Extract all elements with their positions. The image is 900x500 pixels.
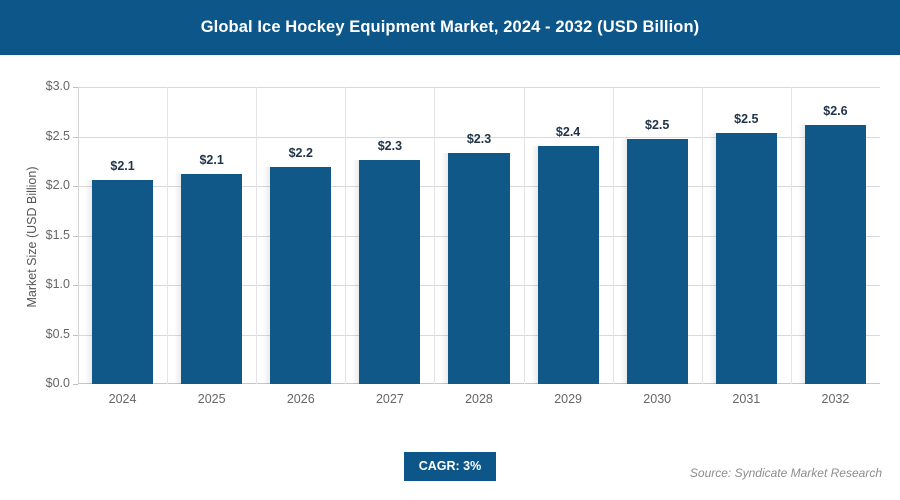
bar-value-label: $2.6 [791, 104, 880, 118]
y-axis-tick-mark [73, 236, 78, 237]
x-axis-tick-label: 2024 [78, 392, 167, 406]
y-axis-tick-mark [73, 335, 78, 336]
chart-area: Market Size (USD Billion) $0.0$0.5$1.0$1… [0, 55, 900, 500]
bar[interactable] [359, 160, 420, 384]
x-axis-tick-label: 2027 [345, 392, 434, 406]
bar-value-label: $2.1 [78, 159, 167, 173]
bar-group: $2.42029 [538, 87, 599, 384]
bar-group: $2.52031 [716, 87, 777, 384]
x-axis-tick-label: 2026 [256, 392, 345, 406]
cagr-badge: CAGR: 3% [404, 452, 496, 481]
bar[interactable] [181, 174, 242, 384]
bar-group: $2.12024 [92, 87, 153, 384]
chart-header-band: Global Ice Hockey Equipment Market, 2024… [0, 0, 900, 55]
y-axis-tick-mark [73, 186, 78, 187]
category-separator [702, 87, 703, 384]
bar-value-label: $2.2 [256, 146, 345, 160]
category-separator [256, 87, 257, 384]
x-axis-tick-label: 2029 [524, 392, 613, 406]
chart-title: Global Ice Hockey Equipment Market, 2024… [0, 0, 900, 55]
bar-group: $2.62032 [805, 87, 866, 384]
bar-group: $2.32028 [448, 87, 509, 384]
bar-value-label: $2.1 [167, 153, 256, 167]
bar-group: $2.12025 [181, 87, 242, 384]
bar-value-label: $2.5 [702, 112, 791, 126]
bar-value-label: $2.3 [434, 132, 523, 146]
y-axis-tick-label: $3.0 [22, 79, 70, 93]
y-axis-tick-label: $2.5 [22, 129, 70, 143]
y-axis-tick-label: $2.0 [22, 178, 70, 192]
category-separator [167, 87, 168, 384]
x-axis-tick-label: 2025 [167, 392, 256, 406]
bar[interactable] [448, 153, 509, 384]
source-note: Source: Syndicate Market Research [690, 466, 882, 480]
bar-value-label: $2.5 [613, 118, 702, 132]
bar-value-label: $2.3 [345, 139, 434, 153]
bar[interactable] [627, 139, 688, 384]
bar-value-label: $2.4 [524, 125, 613, 139]
bar[interactable] [716, 133, 777, 384]
bar-group: $2.32027 [359, 87, 420, 384]
x-axis-tick-label: 2028 [434, 392, 523, 406]
category-separator [791, 87, 792, 384]
y-axis-tick-label: $1.5 [22, 228, 70, 242]
y-axis-tick-label: $0.0 [22, 376, 70, 390]
bar[interactable] [538, 146, 599, 384]
y-axis-tick-mark [73, 285, 78, 286]
y-axis-tick-mark [73, 384, 78, 385]
category-separator [345, 87, 346, 384]
bar[interactable] [805, 125, 866, 384]
x-axis-tick-label: 2032 [791, 392, 880, 406]
y-axis-tick-mark [73, 87, 78, 88]
x-axis-tick-label: 2030 [613, 392, 702, 406]
bar[interactable] [92, 180, 153, 384]
bar[interactable] [270, 167, 331, 384]
bar-group: $2.52030 [627, 87, 688, 384]
y-axis-tick-mark [73, 137, 78, 138]
chart-card: Global Ice Hockey Equipment Market, 2024… [0, 0, 900, 500]
plot-region: $0.0$0.5$1.0$1.5$2.0$2.5$3.0$2.12024$2.1… [78, 87, 880, 384]
y-axis-tick-label: $0.5 [22, 327, 70, 341]
x-axis-tick-label: 2031 [702, 392, 791, 406]
y-axis-tick-label: $1.0 [22, 277, 70, 291]
bar-group: $2.22026 [270, 87, 331, 384]
